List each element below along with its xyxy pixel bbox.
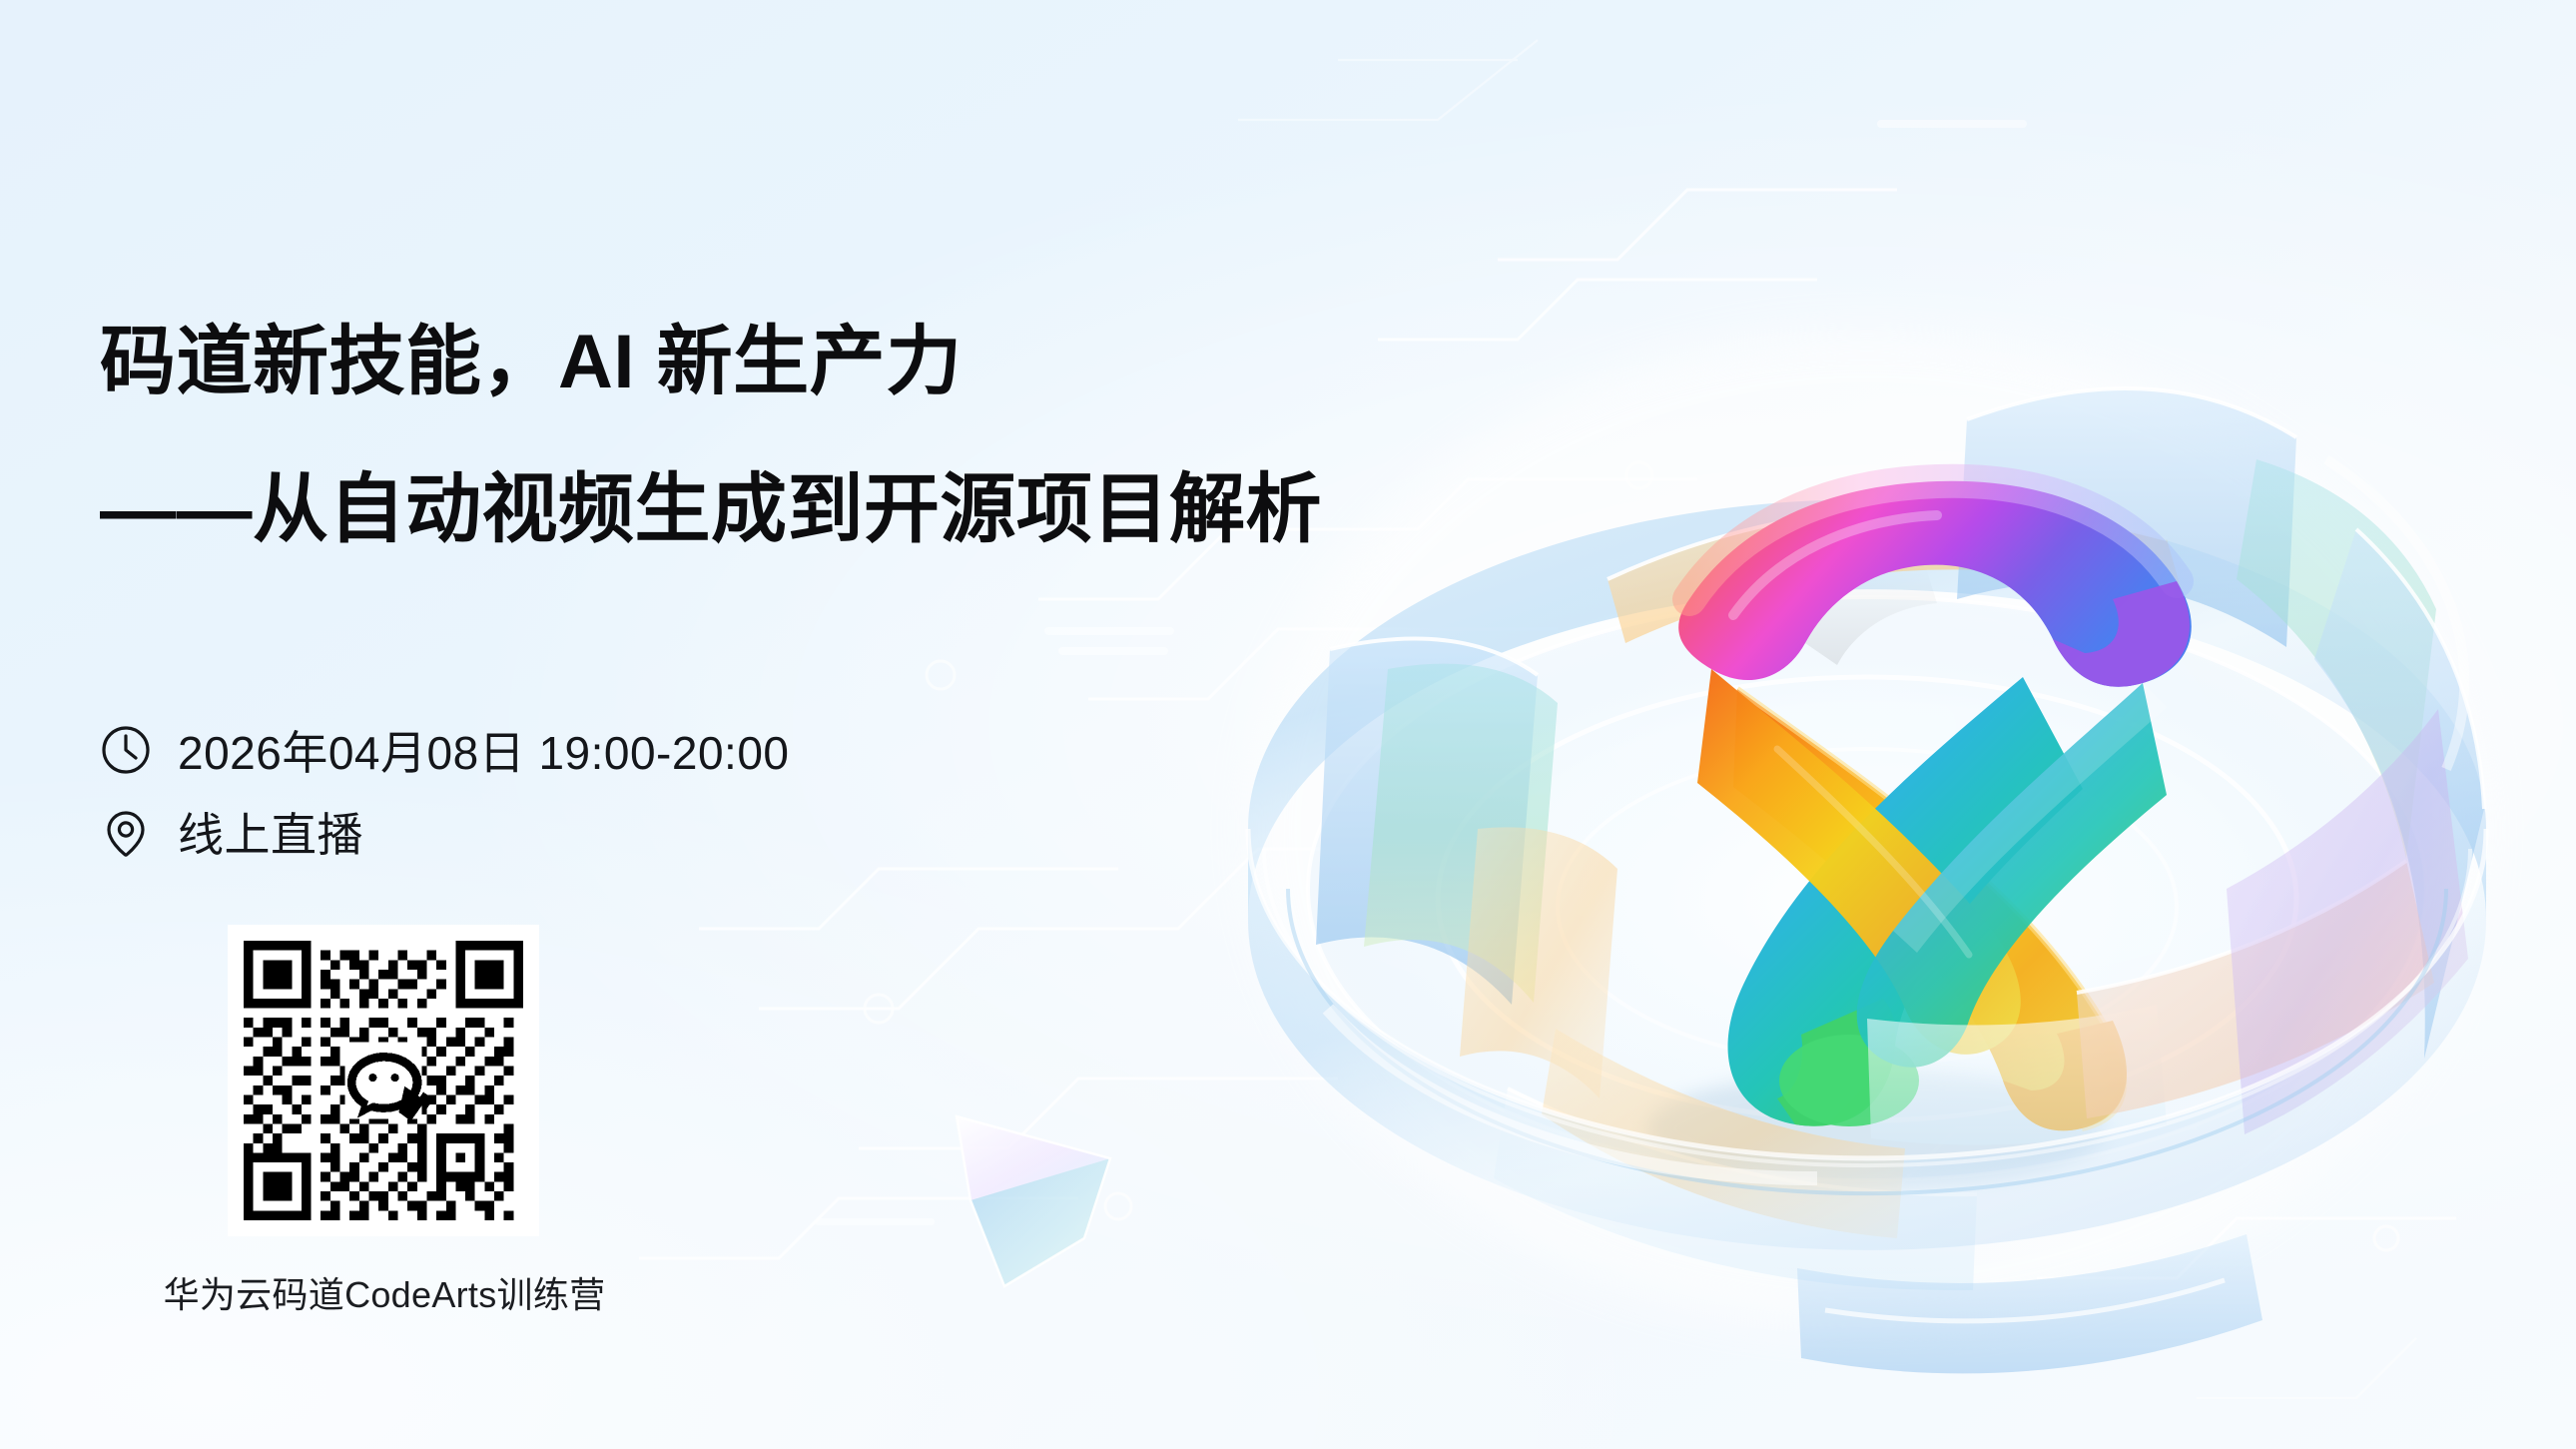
clock-icon (100, 724, 152, 776)
event-time-row: 2026年04月08日 19:00-20:00 (100, 717, 790, 783)
copy-block: 码道新技能，AI 新生产力 ——从自动视频生成到开源项目解析 2026年04月0… (0, 0, 1248, 1449)
page-title-line-1: 码道新技能，AI 新生产力 (100, 300, 963, 409)
poster-canvas: 码道新技能，AI 新生产力 ——从自动视频生成到开源项目解析 2026年04月0… (0, 0, 2576, 1449)
qr-code-caption: 华为云码道CodeArts训练营 (150, 1266, 619, 1318)
glass-ring-rainbow-ribbon-artwork (1178, 130, 2576, 1449)
event-time-text: 2026年04月08日 19:00-20:00 (178, 717, 790, 783)
event-location-text: 线上直播 (178, 799, 363, 865)
page-title-line-2: ——从自动视频生成到开源项目解析 (100, 447, 1322, 557)
event-location-row: 线上直播 (100, 799, 363, 865)
qr-code[interactable] (228, 925, 539, 1236)
location-pin-icon (100, 806, 152, 858)
